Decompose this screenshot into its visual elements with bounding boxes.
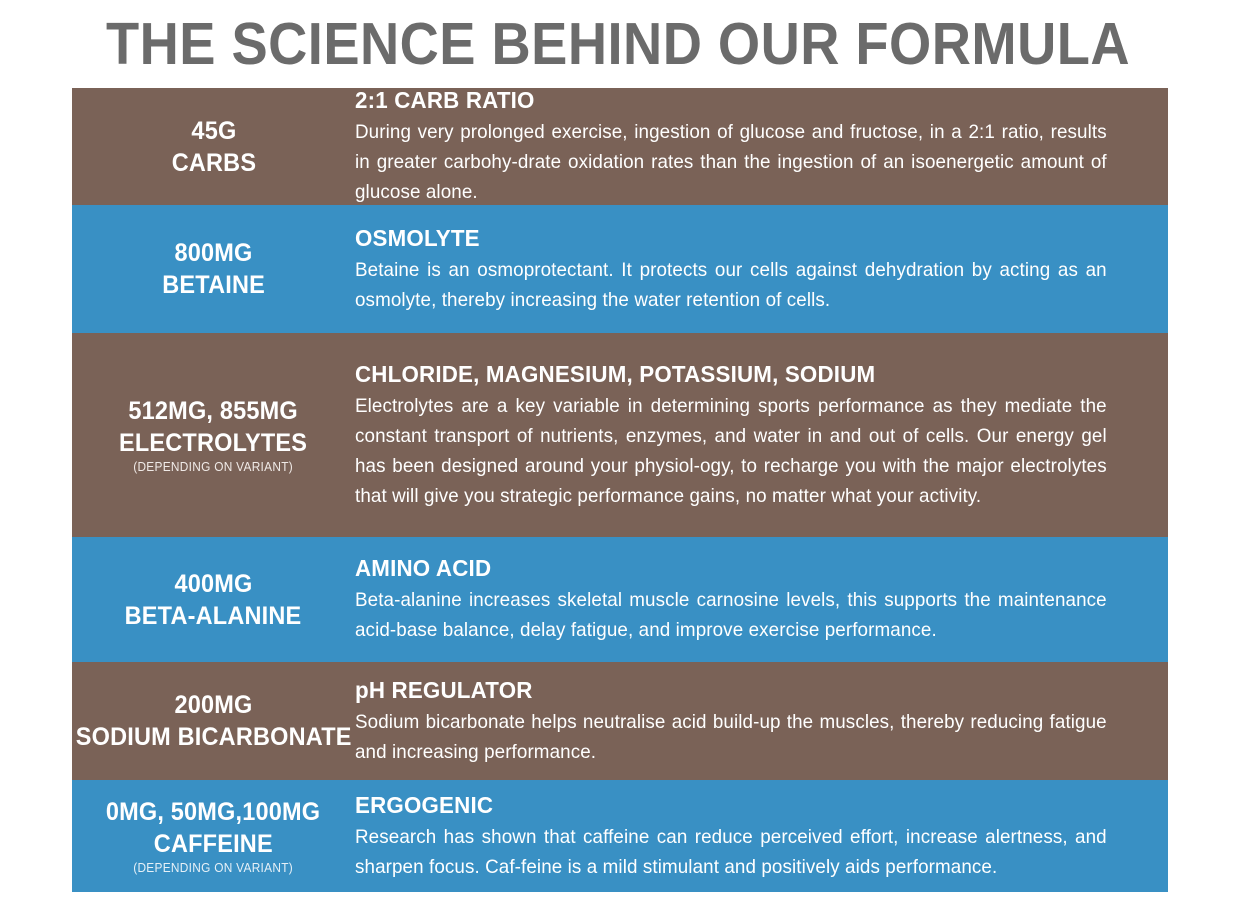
ingredient-substance: SODIUM BICARBONATE xyxy=(76,721,352,753)
ingredient-substance: ELECTROLYTES xyxy=(119,427,307,459)
table-row: 512MG, 855MG ELECTROLYTES (DEPENDING ON … xyxy=(72,333,1168,537)
ingredient-body-cell: CHLORIDE, MAGNESIUM, POTASSIUM, SODIUM E… xyxy=(355,333,1168,537)
ingredient-label-cell: 400MG BETA-ALANINE xyxy=(72,537,355,662)
ingredient-heading: CHLORIDE, MAGNESIUM, POTASSIUM, SODIUM xyxy=(355,360,1095,389)
ingredient-description: During very prolonged exercise, ingestio… xyxy=(355,117,1107,205)
ingredient-label-cell: 512MG, 855MG ELECTROLYTES (DEPENDING ON … xyxy=(72,333,355,537)
ingredient-table: 45G CARBS 2:1 CARB RATIO During very pro… xyxy=(72,88,1168,892)
ingredient-heading: OSMOLYTE xyxy=(355,224,1095,253)
ingredient-body-cell: ERGOGENIC Research has shown that caffei… xyxy=(355,780,1168,892)
ingredient-body-cell: 2:1 CARB RATIO During very prolonged exe… xyxy=(355,88,1168,205)
ingredient-substance: BETA-ALANINE xyxy=(125,600,302,632)
page-title: THE SCIENCE BEHIND OUR FORMULA xyxy=(49,0,1186,88)
ingredient-substance: BETAINE xyxy=(162,269,265,301)
ingredient-amount: 800MG xyxy=(174,237,252,269)
ingredient-substance: CARBS xyxy=(171,147,256,179)
ingredient-variant-note: (DEPENDING ON VARIANT) xyxy=(134,460,294,475)
ingredient-label-cell: 45G CARBS xyxy=(72,88,355,205)
ingredient-amount: 200MG xyxy=(174,689,252,721)
ingredient-body-cell: OSMOLYTE Betaine is an osmoprotectant. I… xyxy=(355,205,1168,333)
ingredient-description: Electrolytes are a key variable in deter… xyxy=(355,391,1107,511)
table-row: 200MG SODIUM BICARBONATE pH REGULATOR So… xyxy=(72,662,1168,780)
ingredient-amount: 0MG, 50MG,100MG xyxy=(106,796,320,828)
ingredient-description: Research has shown that caffeine can red… xyxy=(355,822,1107,882)
ingredient-description: Beta-alanine increases skeletal muscle c… xyxy=(355,585,1107,645)
ingredient-body-cell: pH REGULATOR Sodium bicarbonate helps ne… xyxy=(355,662,1168,780)
ingredient-description: Betaine is an osmoprotectant. It protect… xyxy=(355,255,1107,315)
table-row: 0MG, 50MG,100MG CAFFEINE (DEPENDING ON V… xyxy=(72,780,1168,892)
ingredient-amount: 45G xyxy=(191,115,236,147)
ingredient-variant-note: (DEPENDING ON VARIANT) xyxy=(134,861,294,876)
ingredient-label-cell: 200MG SODIUM BICARBONATE xyxy=(72,662,355,780)
ingredient-label-cell: 0MG, 50MG,100MG CAFFEINE (DEPENDING ON V… xyxy=(72,780,355,892)
ingredient-substance: CAFFEINE xyxy=(154,828,273,860)
ingredient-body-cell: AMINO ACID Beta-alanine increases skelet… xyxy=(355,537,1168,662)
ingredient-description: Sodium bicarbonate helps neutralise acid… xyxy=(355,707,1107,767)
ingredient-amount: 400MG xyxy=(174,568,252,600)
ingredient-heading: pH REGULATOR xyxy=(355,676,1095,705)
table-row: 800MG BETAINE OSMOLYTE Betaine is an osm… xyxy=(72,205,1168,333)
ingredient-amount: 512MG, 855MG xyxy=(129,395,298,427)
ingredient-heading: ERGOGENIC xyxy=(355,791,1095,820)
table-row: 45G CARBS 2:1 CARB RATIO During very pro… xyxy=(72,88,1168,205)
ingredient-label-cell: 800MG BETAINE xyxy=(72,205,355,333)
ingredient-heading: AMINO ACID xyxy=(355,554,1095,583)
infographic-page: THE SCIENCE BEHIND OUR FORMULA 45G CARBS… xyxy=(0,0,1236,922)
ingredient-heading: 2:1 CARB RATIO xyxy=(355,88,1095,115)
table-row: 400MG BETA-ALANINE AMINO ACID Beta-alani… xyxy=(72,537,1168,662)
